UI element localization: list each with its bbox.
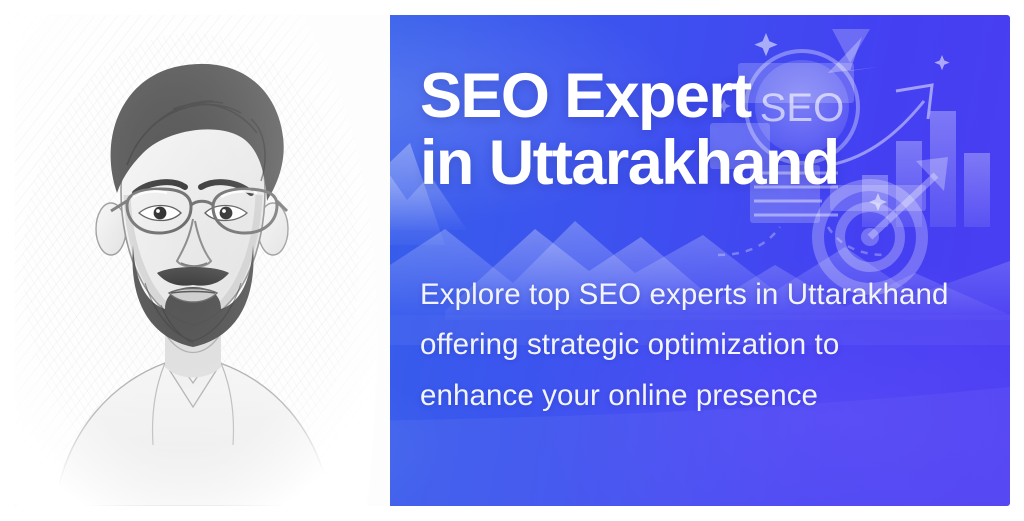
seo-hero-banner: SEO	[15, 15, 1010, 506]
headline-line-2: in Uttarakhand	[420, 130, 980, 197]
portrait-sketch	[15, 15, 390, 506]
banner-copy: SEO Expert in Uttarakhand Explore top SE…	[420, 63, 980, 422]
portrait-panel	[15, 15, 390, 506]
banner-subtitle: Explore top SEO experts in Uttarakhand o…	[420, 197, 980, 422]
subtitle-line-3: enhance your online presence	[420, 371, 980, 422]
banner-stage: SEO	[0, 0, 1024, 521]
subtitle-line-2: offering strategic optimization to	[420, 320, 980, 371]
page-title: SEO Expert in Uttarakhand	[420, 63, 980, 197]
subtitle-line-1: Explore top SEO experts in Uttarakhand	[420, 270, 980, 321]
headline-line-1: SEO Expert	[420, 61, 751, 131]
